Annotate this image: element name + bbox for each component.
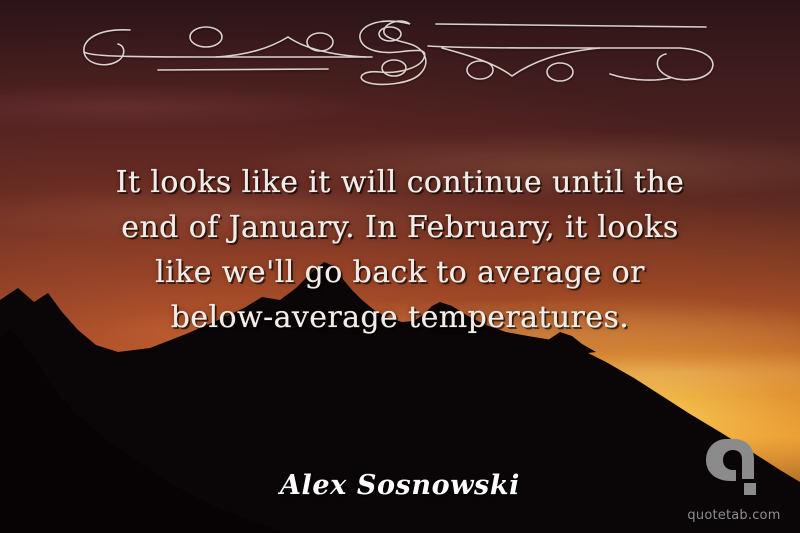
- decorative-flourish-icon: [80, 8, 720, 88]
- author-name: Alex Sosnowski: [280, 470, 520, 501]
- quote-card: It looks like it will continue until the…: [0, 0, 800, 533]
- quotetab-url: quotetab.com: [682, 508, 786, 523]
- quote-author: Alex Sosnowski: [0, 470, 800, 501]
- quote-text: It looks like it will continue until the…: [0, 160, 800, 340]
- quote-line: It looks like it will continue until the: [48, 160, 752, 205]
- quote-line: like we'll go back to average or: [48, 250, 752, 295]
- quote-line: below-average temperatures.: [48, 295, 752, 340]
- quotetab-logo-icon: [702, 439, 768, 497]
- quotetab-watermark[interactable]: quotetab.com: [682, 439, 786, 523]
- quote-line: end of January. In February, it looks: [48, 205, 752, 250]
